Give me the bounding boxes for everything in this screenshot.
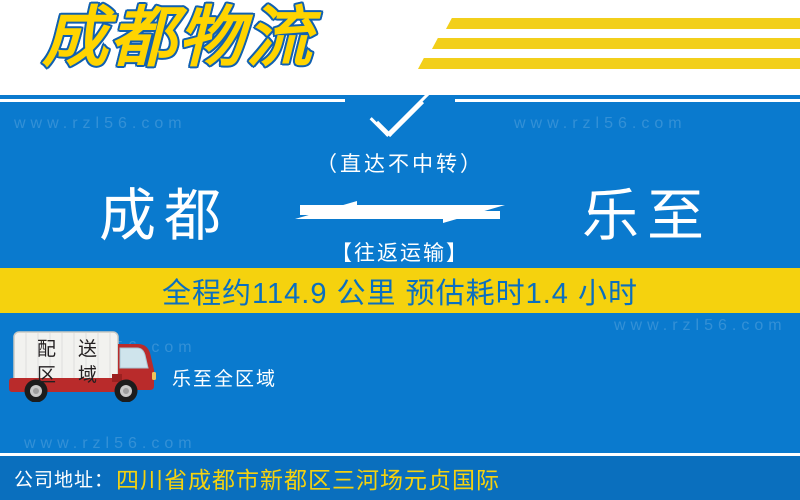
address-label: 公司地址： (0, 465, 114, 492)
header-stripe-3 (418, 58, 800, 69)
watermark: www.rzl56.com (24, 435, 197, 453)
address-bar: 公司地址： 四川省成都市新都区三河场元贞国际 (0, 456, 800, 500)
coverage-row: 配 送 区 域 乐至全区域 (0, 330, 800, 405)
poster-header: 成都物流 (0, 0, 800, 95)
distance-text: 全程约114.9 公里 预估耗时1.4 小时 (162, 270, 638, 312)
truck-box-char: 送 (78, 340, 97, 359)
truck-box-char: 区 (37, 366, 56, 385)
destination-city: 乐至 (518, 188, 768, 245)
origin-city: 成都 (35, 188, 285, 245)
chevron-divider (0, 95, 800, 135)
truck-box-label: 配 送 区 域 (26, 336, 108, 388)
delivery-truck-icon: 配 送 区 域 (8, 330, 156, 402)
truck-box-char: 配 (37, 340, 56, 359)
direct-note: （直达不中转） (272, 150, 528, 175)
distance-bar: 全程约114.9 公里 预估耗时1.4 小时 (0, 268, 800, 313)
poster-body: www.rzl56.com www.rzl56.com www.rzl56.co… (0, 95, 800, 455)
header-stripe-2 (432, 38, 800, 49)
coverage-area-text: 乐至全区域 (172, 364, 277, 391)
roundtrip-note: 【往返运输】 (272, 243, 528, 264)
address-value: 四川省成都市新都区三河场元贞国际 (114, 461, 500, 495)
header-stripe-1 (446, 18, 800, 29)
divider-line-right (455, 99, 800, 102)
page-title: 成都物流 (42, 0, 314, 79)
divider-line-left (0, 99, 345, 102)
logistics-poster: 成都物流 www.rzl56.com www.rzl56.com www.rzl… (0, 0, 800, 500)
chevron-down-icon (376, 95, 424, 137)
route-middle: （直达不中转） 【往返运输】 (272, 150, 528, 264)
bidirectional-arrow-icon (295, 191, 505, 237)
truck-box-char: 域 (78, 366, 97, 385)
